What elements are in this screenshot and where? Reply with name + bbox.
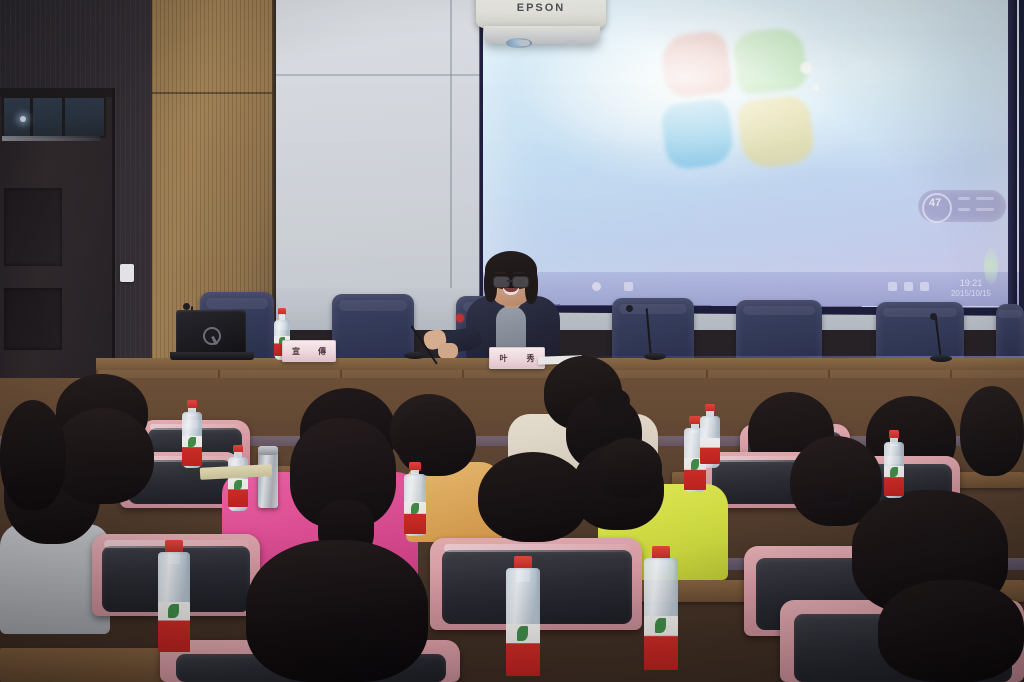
windows-pane-green	[732, 26, 809, 96]
bottle-label	[700, 438, 720, 464]
door-mullion	[62, 96, 65, 138]
sparkle-icon	[812, 84, 819, 91]
nameplate-char: 叶	[500, 353, 508, 364]
nameplate-char: 傳	[318, 346, 326, 357]
audience-head	[960, 386, 1024, 476]
light-switch[interactable]	[120, 264, 134, 282]
screen-right-border	[1008, 0, 1017, 312]
seat-frame-highlight	[444, 544, 630, 552]
projector-underside	[484, 26, 600, 44]
wood-panel-seam	[152, 92, 274, 94]
bottle-leaf-logo	[655, 618, 666, 633]
speaker-eyebrow	[494, 272, 506, 274]
bottle-leaf-logo	[234, 480, 242, 490]
projector-brand-label: EPSON	[500, 2, 582, 14]
bottle-leaf-logo	[517, 626, 528, 641]
door-light-reflection	[2, 136, 100, 141]
tray-icon-moon[interactable]	[592, 282, 601, 291]
projector-foot	[518, 40, 530, 46]
laptop-base[interactable]	[170, 352, 254, 360]
microphone-head	[626, 305, 633, 312]
water-bottle[interactable]	[158, 540, 190, 658]
thermos-cap	[258, 446, 278, 455]
bottle-leaf-logo	[890, 467, 898, 477]
taskbar-clock-date[interactable]: 2015/10/15	[936, 289, 1006, 298]
wall-seam	[450, 0, 452, 330]
nameplate-left: 宣 傳	[282, 340, 336, 362]
microphone-head	[183, 303, 190, 310]
tray-icon-action[interactable]	[920, 282, 929, 291]
microphone-base	[644, 353, 666, 360]
windows-logo-icon	[652, 19, 829, 187]
water-bottle[interactable]	[884, 430, 904, 500]
speaker-inner-shirt	[496, 306, 526, 350]
water-bottle[interactable]	[644, 546, 678, 676]
speaker-hand	[438, 343, 458, 359]
door-glass-transom	[2, 96, 106, 138]
windows-pane-red	[660, 29, 733, 99]
tray-icon[interactable]	[624, 282, 633, 291]
auditorium-photo: 47 19:21 2015/10/15 EPSON	[0, 0, 1024, 682]
nameplate-speaker: 叶 秀	[489, 347, 545, 369]
microphone-base	[404, 352, 426, 359]
audience-head	[478, 452, 588, 542]
glasses-bridge	[507, 280, 513, 282]
microphone-head	[456, 314, 464, 322]
thermos-flask[interactable]	[258, 450, 278, 508]
door-panel	[4, 188, 62, 266]
windows-pane-yellow	[736, 94, 816, 170]
audience-head-foreground	[246, 540, 428, 682]
audience-head	[52, 408, 154, 504]
sparkle-icon	[800, 62, 812, 74]
screen-edge-highlight	[984, 248, 998, 284]
bottle-leaf-logo	[168, 604, 179, 618]
nameplate-char: 秀	[527, 353, 535, 364]
compaq-logo-icon	[203, 327, 221, 345]
water-bottle[interactable]	[182, 400, 202, 470]
microphone-head	[930, 313, 937, 320]
water-bottle[interactable]	[700, 404, 720, 468]
gadget-bar	[958, 197, 970, 200]
tray-icon-network[interactable]	[888, 282, 897, 291]
hair-bun	[596, 388, 630, 414]
glasses-icon	[493, 276, 510, 288]
audience-head	[0, 400, 66, 510]
door-panel	[4, 288, 62, 350]
stage-chair	[332, 294, 414, 366]
speaker-eyebrow	[513, 272, 525, 274]
water-bottle[interactable]	[404, 462, 426, 538]
gadget-bar	[958, 208, 970, 211]
water-bottle[interactable]	[506, 556, 540, 682]
windows-pane-blue	[660, 98, 735, 172]
audience-head	[596, 438, 662, 498]
glasses-icon	[818, 486, 850, 504]
gadget-value: 47	[922, 197, 948, 209]
tray-icon-volume[interactable]	[904, 282, 913, 291]
glass-glare	[20, 116, 26, 122]
gadget-bar	[976, 197, 994, 200]
audience-head-foreground	[878, 580, 1024, 682]
bottle-leaf-logo	[411, 503, 419, 514]
nameplate-char: 宣	[292, 346, 300, 357]
door-mullion	[30, 96, 33, 138]
microphone-base	[930, 355, 952, 362]
projector-foot	[566, 40, 578, 46]
bottle-leaf-logo	[188, 437, 196, 447]
glasses-icon	[512, 276, 529, 288]
bottle-leaf-logo	[691, 459, 699, 470]
gadget-bar	[976, 208, 994, 211]
